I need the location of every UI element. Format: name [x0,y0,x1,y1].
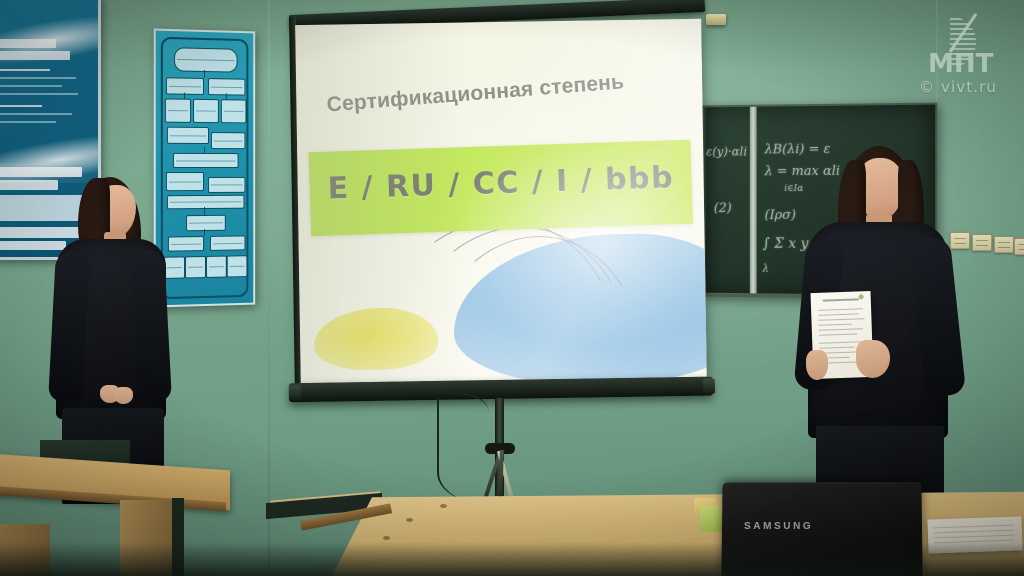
wall-socket [994,236,1014,253]
slide-highlight-band: E / RU / CC / I / bbb [308,140,693,237]
tripod-projector-screen: Сертификационная степень E / RU / CC / I… [283,3,711,405]
chalk-line: ε(y)·αli [706,145,747,159]
indicators-flowchart-poster [154,29,255,308]
chalk-line: λ [763,264,769,275]
slide-band-text: E / RU / CC / I / bbb [327,160,674,206]
wall-bracket [706,14,726,25]
chalk-line: (Iρσ) [765,208,796,223]
wall-seam [268,0,270,576]
slide-title: Сертификационная степень [326,66,677,117]
chalk-line: i∈Iα [784,184,803,194]
table-hole [440,504,447,508]
chalk-line: (2) [714,201,732,216]
hand-left [806,350,828,380]
table-hole [406,518,413,522]
floor-shadow [0,542,1024,576]
wall-socket [972,234,992,251]
presentation-slide: Сертификационная степень E / RU / CC / I… [295,19,707,383]
chalk-line: λB(λi) = ε [765,142,831,157]
laptop-brand-label: SAMSUNG [744,521,813,532]
table-hole [383,536,390,540]
wall-socket [950,232,970,249]
hand [114,387,133,404]
wall-socket [1014,238,1024,255]
classroom-scene: ε(y)·αli (2) λB(λi) = ε λ = max αli − i∈… [0,0,1024,576]
